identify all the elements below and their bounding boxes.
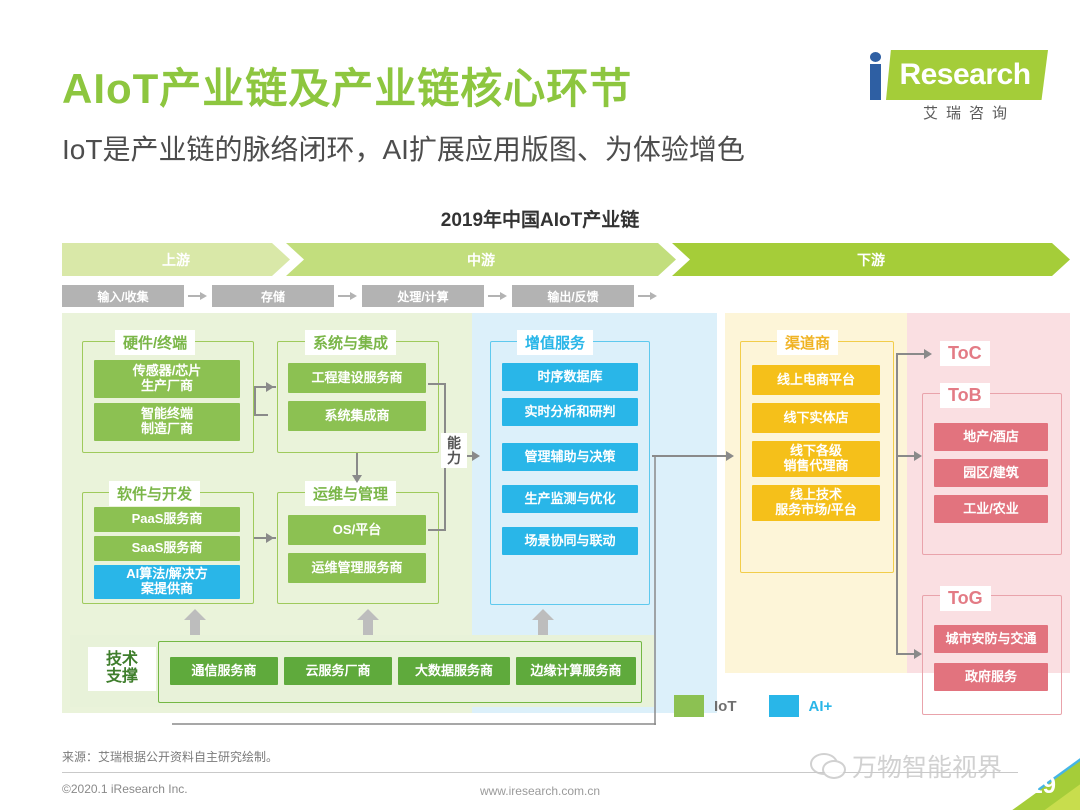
item-edge-computing: 边缘计算服务商 [516, 657, 636, 685]
item-tech-service-market-l1: 线上技术 [790, 487, 842, 502]
item-industry-agriculture: 工业/农业 [934, 495, 1048, 523]
connector-value-channel [652, 455, 730, 457]
item-park-building: 园区/建筑 [934, 459, 1048, 487]
page-number: 19 [1029, 772, 1056, 800]
capability-arrow-head [472, 451, 480, 461]
stage-downstream: 下游 [672, 243, 1070, 276]
connector-sw-head [266, 533, 274, 543]
process-storage: 存储 [212, 285, 334, 307]
connector-channel-toc-head [924, 349, 932, 359]
capability-label: 能力 [441, 433, 467, 468]
industry-chain-diagram: 上游 中游 下游 输入/收集 存储 处理/计算 输出/反馈 硬件/终端 传感器/… [62, 243, 1070, 733]
process-arrow-3 [488, 292, 508, 300]
connector-hw-head [266, 382, 274, 392]
logo-wordmark: Research [899, 58, 1030, 92]
group-system-integration [277, 341, 439, 453]
item-realestate-hotel: 地产/酒店 [934, 423, 1048, 451]
group-tob-label: ToB [940, 383, 990, 408]
group-ops-management [277, 492, 439, 604]
process-arrow-2 [338, 292, 358, 300]
website-url: www.iresearch.com.cn [0, 784, 1080, 798]
item-tech-service-market-l2: 服务市场/平台 [775, 502, 857, 517]
item-engineering: 工程建设服务商 [288, 363, 426, 393]
item-sales-agent-l1: 线下各级 [790, 443, 842, 458]
stage-chevron-row: 上游 中游 下游 [62, 243, 1070, 276]
item-smart-terminal: 智能终端 制造厂商 [94, 403, 240, 441]
logo-i-stem [870, 64, 881, 100]
item-ai-algorithm-l1: AI算法/解决方 [126, 566, 208, 581]
stage-upstream: 上游 [62, 243, 290, 276]
item-offline-store: 线下实体店 [752, 403, 880, 433]
legend-swatch-aiplus [769, 695, 799, 717]
item-ops-service: 运维管理服务商 [288, 553, 426, 583]
tech-uparrow-1 [184, 609, 206, 635]
group-tog-label: ToG [940, 586, 991, 611]
item-sensor-chip-l1: 传感器/芯片 [133, 363, 202, 378]
connector-hw-v [254, 386, 256, 416]
feedback-loop-v [654, 455, 656, 725]
item-smart-terminal-l2: 制造厂商 [141, 421, 193, 436]
item-system-integrator: 系统集成商 [288, 401, 426, 431]
connector-sys-ops-v [356, 453, 358, 477]
legend-swatch-iot [674, 695, 704, 717]
chart-title: 2019年中国AIoT产业链 [0, 205, 1080, 232]
process-output: 输出/反馈 [512, 285, 634, 307]
item-tsdb: 时序数据库 [502, 363, 638, 391]
wechat-icon [810, 753, 844, 779]
item-ai-algorithm-l2: 案提供商 [141, 581, 193, 596]
item-comm-service: 通信服务商 [170, 657, 278, 685]
item-bigdata-service: 大数据服务商 [398, 657, 510, 685]
chart-legend: IoT AI+ [674, 695, 832, 717]
process-arrow-1 [188, 292, 208, 300]
item-cloud-service: 云服务厂商 [284, 657, 392, 685]
item-sensor-chip-l2: 生产厂商 [141, 378, 193, 393]
logo-parallelogram: Research [886, 50, 1048, 100]
logo-chinese-name: 艾瑞咨询 [894, 102, 1044, 123]
logo-i-dot [870, 52, 881, 62]
item-sensor-chip: 传感器/芯片 生产厂商 [94, 360, 240, 398]
group-ops-management-label: 运维与管理 [305, 481, 396, 506]
tech-uparrow-3 [532, 609, 554, 635]
group-tech-support-label: 技术 支撑 [88, 647, 156, 691]
group-hardware-label: 硬件/终端 [115, 330, 195, 355]
capability-bracket-bottom [428, 529, 446, 531]
page-title: AIoT产业链及产业链核心环节 [62, 55, 632, 116]
group-channel-label: 渠道商 [777, 330, 838, 355]
item-ai-algorithm: AI算法/解决方 案提供商 [94, 565, 240, 599]
item-saas: SaaS服务商 [94, 536, 240, 561]
source-note: 来源：艾瑞根据公开资料自主研究绘制。 [62, 748, 278, 765]
item-management-decision: 管理辅助与决策 [502, 443, 638, 471]
connector-channel-toc-v [896, 353, 898, 457]
item-sales-agent: 线下各级 销售代理商 [752, 441, 880, 477]
connector-channel-tog-head [914, 649, 922, 659]
item-scene-coordination: 场景协同与联动 [502, 527, 638, 555]
item-online-ecommerce: 线上电商平台 [752, 365, 880, 395]
connector-channel-tob-head [914, 451, 922, 461]
item-tech-service-market: 线上技术 服务市场/平台 [752, 485, 880, 521]
connector-channel-tog-v [896, 455, 898, 655]
item-government-service: 政府服务 [934, 663, 1048, 691]
iresearch-logo: Research 艾瑞咨询 [866, 48, 1052, 120]
process-flow-row: 输入/收集 存储 处理/计算 输出/反馈 [62, 285, 682, 307]
connector-hw-h2 [254, 414, 268, 416]
stage-midstream: 中游 [286, 243, 676, 276]
process-input: 输入/收集 [62, 285, 184, 307]
item-paas: PaaS服务商 [94, 507, 240, 532]
corner-decoration [960, 730, 1080, 810]
group-tech-support-label-l2: 支撑 [106, 668, 138, 685]
item-production-monitoring: 生产监测与优化 [502, 485, 638, 513]
page-subtitle: IoT是产业链的脉络闭环，AI扩展应用版图、为体验增色 [62, 128, 745, 168]
capability-bracket-top [428, 383, 446, 385]
item-smart-terminal-l1: 智能终端 [141, 406, 193, 421]
feedback-loop-h [172, 723, 656, 725]
legend-label-iot: IoT [714, 698, 737, 715]
capability-label-text: 能力 [447, 435, 461, 466]
item-city-security-traffic: 城市安防与交通 [934, 625, 1048, 653]
item-os-platform: OS/平台 [288, 515, 426, 545]
group-software-label: 软件与开发 [109, 481, 200, 506]
group-tech-support-label-l1: 技术 [106, 651, 138, 668]
connector-sys-ops-head [352, 475, 362, 483]
slide-root: AIoT产业链及产业链核心环节 IoT是产业链的脉络闭环，AI扩展应用版图、为体… [0, 0, 1080, 810]
item-realtime-analysis: 实时分析和研判 [502, 398, 638, 426]
group-toc-label: ToC [940, 341, 990, 366]
process-compute: 处理/计算 [362, 285, 484, 307]
connector-value-channel-head [726, 451, 734, 461]
item-sales-agent-l2: 销售代理商 [783, 458, 848, 473]
legend-label-aiplus: AI+ [809, 698, 833, 715]
group-value-added-label: 增值服务 [517, 330, 593, 355]
group-system-integration-label: 系统与集成 [305, 330, 396, 355]
group-tog [922, 595, 1062, 715]
tech-uparrow-2 [357, 609, 379, 635]
process-arrow-4 [638, 292, 658, 300]
